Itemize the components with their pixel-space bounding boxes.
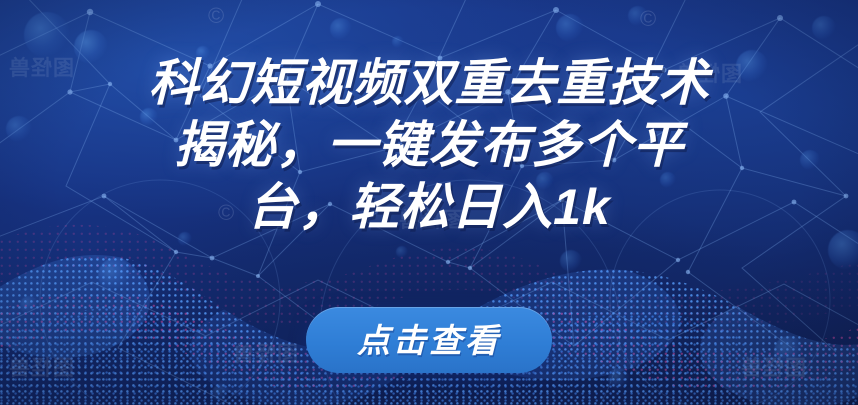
cta-button-label: 点击查看 [357,324,501,357]
headline-line-3: 台，轻松日入1k [0,176,858,238]
copyright-watermark: © [640,8,656,30]
headline-block: 科幻短视频双重去重技术 揭秘，一键发布多个平 台，轻松日入1k [0,52,858,238]
promo-banner: 图怪兽 图怪兽 图怪兽 图怪兽 图怪兽 图怪兽 © © © © 科幻短视频双重去… [0,0,858,405]
headline-line-1: 科幻短视频双重去重技术 [0,52,858,114]
headline-line-2: 揭秘，一键发布多个平 [0,114,858,176]
copyright-watermark: © [208,5,224,27]
cta-container: 点击查看 [0,307,858,373]
click-to-view-button[interactable]: 点击查看 [306,307,552,373]
